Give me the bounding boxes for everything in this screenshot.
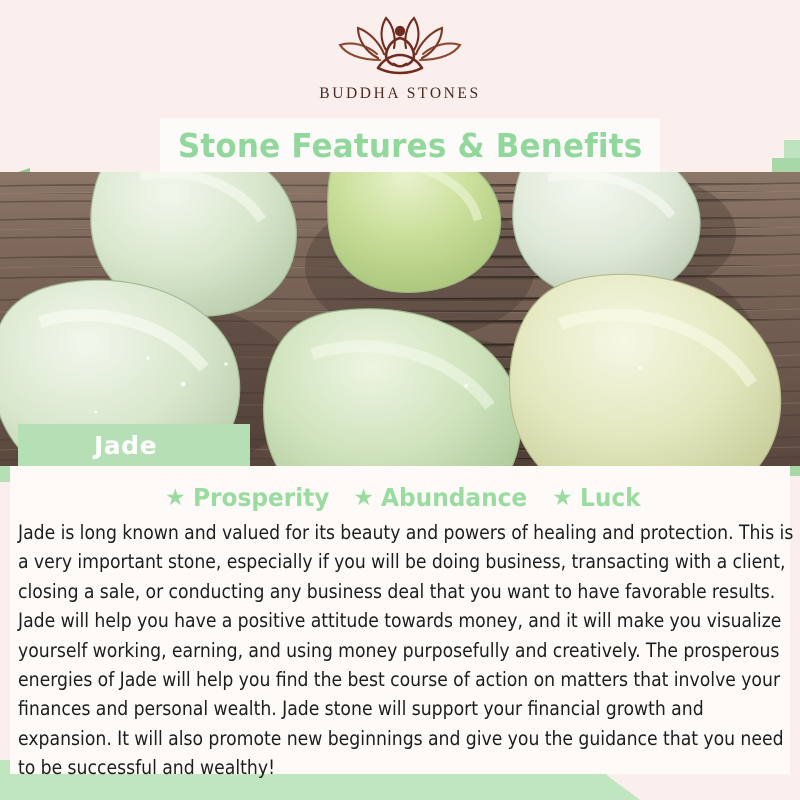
- keyword-label: Prosperity: [193, 483, 329, 512]
- keyword-label: Abundance: [381, 483, 527, 512]
- keyword-item-abundance: ★ Abundance: [353, 483, 538, 512]
- keyword-item-prosperity: ★ Prosperity: [165, 483, 339, 512]
- stone-name: Jade: [94, 431, 157, 460]
- keyword-label: Luck: [580, 483, 641, 512]
- content-panel: ★ Prosperity ★ Abundance ★ Luck Jade is …: [10, 466, 790, 774]
- star-icon: ★: [353, 486, 374, 509]
- brand-logo-block: BUDDHA STONES: [0, 0, 800, 118]
- stone-name-band: Jade: [18, 424, 250, 466]
- lotus-meditation-icon: [334, 14, 466, 80]
- poster-root: BUDDHA STONES: [0, 0, 800, 800]
- stone-photo: [0, 172, 800, 466]
- page-title: Stone Features & Benefits: [178, 126, 643, 165]
- keyword-item-luck: ★ Luck: [552, 483, 645, 512]
- brand-name: BUDDHA STONES: [319, 85, 480, 103]
- star-icon: ★: [165, 486, 186, 509]
- star-icon: ★: [552, 486, 573, 509]
- keyword-list: ★ Prosperity ★ Abundance ★ Luck: [20, 478, 790, 516]
- stone-description: Jade is long known and valued for its be…: [18, 518, 794, 783]
- page-title-strip: Stone Features & Benefits: [160, 118, 660, 172]
